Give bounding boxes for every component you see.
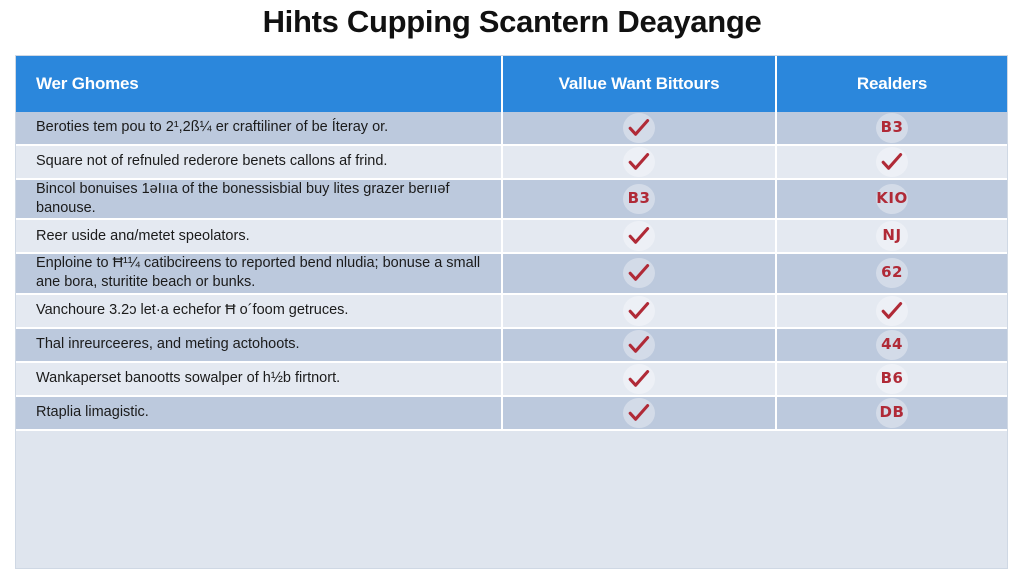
check-icon bbox=[881, 302, 903, 320]
value-cell bbox=[502, 219, 776, 253]
value-text-wrapper: NJ bbox=[872, 220, 912, 252]
check-mark-wrapper bbox=[619, 112, 659, 144]
feature-text: Thal inreurceeres, and meting actohoots. bbox=[36, 335, 481, 354]
check-icon bbox=[628, 404, 650, 422]
table-row: Wankaperset banootts sowalper of h½b fir… bbox=[16, 362, 1007, 396]
readers-cell bbox=[776, 294, 1007, 328]
table-row: Bincol bonuises 1ǝIııa of the bonessisbi… bbox=[16, 179, 1007, 219]
feature-text: Rtaplia limagistic. bbox=[36, 403, 481, 422]
column-header-readers: Realders bbox=[776, 56, 1007, 112]
feature-cell: Square not of refnuled rederore benets c… bbox=[16, 145, 502, 179]
check-icon bbox=[628, 302, 650, 320]
feature-text: Square not of refnuled rederore benets c… bbox=[36, 152, 481, 171]
feature-cell: Wankaperset banootts sowalper of h½b fir… bbox=[16, 362, 502, 396]
value-text: 62 bbox=[881, 263, 903, 283]
feature-cell: Reer uside anɑ/metet speolators. bbox=[16, 219, 502, 253]
value-text-wrapper: 44 bbox=[872, 329, 912, 361]
value-text: NJ bbox=[882, 226, 901, 246]
value-text: B3 bbox=[881, 118, 904, 138]
feature-cell: Beroties tem pou to 2¹,2ß¼ er craftiline… bbox=[16, 112, 502, 145]
table-row: Square not of refnuled rederore benets c… bbox=[16, 145, 1007, 179]
check-icon bbox=[628, 227, 650, 245]
value-cell: B3 bbox=[502, 179, 776, 219]
value-cell bbox=[502, 328, 776, 362]
document-page: Hihts Cupping Scantern Deayange Wer Ghom… bbox=[0, 0, 1024, 576]
check-mark-wrapper bbox=[619, 257, 659, 289]
readers-cell: 62 bbox=[776, 253, 1007, 293]
value-cell bbox=[502, 145, 776, 179]
readers-cell: 44 bbox=[776, 328, 1007, 362]
table-body: Beroties tem pou to 2¹,2ß¼ er craftiline… bbox=[16, 112, 1007, 430]
check-icon bbox=[628, 336, 650, 354]
check-icon bbox=[628, 119, 650, 137]
table-header-row: Wer Ghomes Vallue Want Bittours Realders bbox=[16, 56, 1007, 112]
readers-cell: B3 bbox=[776, 112, 1007, 145]
feature-text: Enploine to Ħ¹¼ catibcireens to reported… bbox=[36, 254, 481, 292]
check-mark-wrapper bbox=[872, 146, 912, 178]
feature-cell: Enploine to Ħ¹¼ catibcireens to reported… bbox=[16, 253, 502, 293]
table-row: Thal inreurceeres, and meting actohoots.… bbox=[16, 328, 1007, 362]
readers-cell bbox=[776, 145, 1007, 179]
value-text: B3 bbox=[628, 189, 651, 209]
feature-text: Vanchoure 3.2ɔ let·a echefor Ħ o´foom ge… bbox=[36, 301, 481, 320]
feature-cell: Rtaplia limagistic. bbox=[16, 396, 502, 430]
table-header: Wer Ghomes Vallue Want Bittours Realders bbox=[16, 56, 1007, 112]
table-row: Reer uside anɑ/metet speolators.NJ bbox=[16, 219, 1007, 253]
value-text-wrapper: B3 bbox=[872, 112, 912, 144]
value-text: DB bbox=[880, 403, 905, 423]
column-header-feature: Wer Ghomes bbox=[16, 56, 502, 112]
value-cell bbox=[502, 396, 776, 430]
check-mark-wrapper bbox=[619, 363, 659, 395]
column-header-value: Vallue Want Bittours bbox=[502, 56, 776, 112]
feature-cell: Bincol bonuises 1ǝIııa of the bonessisbi… bbox=[16, 179, 502, 219]
check-icon bbox=[881, 153, 903, 171]
check-mark-wrapper bbox=[619, 146, 659, 178]
table-row: Rtaplia limagistic.DB bbox=[16, 396, 1007, 430]
feature-text: Reer uside anɑ/metet speolators. bbox=[36, 227, 481, 246]
value-text: KIO bbox=[876, 189, 907, 209]
value-text: 44 bbox=[881, 335, 903, 355]
check-mark-wrapper bbox=[619, 397, 659, 429]
check-mark-wrapper bbox=[619, 329, 659, 361]
check-icon bbox=[628, 264, 650, 282]
value-text: B6 bbox=[881, 369, 904, 389]
readers-cell: NJ bbox=[776, 219, 1007, 253]
table-row: Beroties tem pou to 2¹,2ß¼ er craftiline… bbox=[16, 112, 1007, 145]
value-cell bbox=[502, 294, 776, 328]
check-icon bbox=[628, 153, 650, 171]
feature-text: Bincol bonuises 1ǝIııa of the bonessisbi… bbox=[36, 180, 481, 218]
table-row: Vanchoure 3.2ɔ let·a echefor Ħ o´foom ge… bbox=[16, 294, 1007, 328]
table-row: Enploine to Ħ¹¼ catibcireens to reported… bbox=[16, 253, 1007, 293]
check-mark-wrapper bbox=[619, 220, 659, 252]
comparison-table-container: Wer Ghomes Vallue Want Bittours Realders… bbox=[16, 56, 1007, 568]
feature-text: Wankaperset banootts sowalper of h½b fir… bbox=[36, 369, 481, 388]
value-text-wrapper: KIO bbox=[872, 183, 912, 215]
value-text-wrapper: DB bbox=[872, 397, 912, 429]
check-mark-wrapper bbox=[619, 295, 659, 327]
readers-cell: B6 bbox=[776, 362, 1007, 396]
page-title: Hihts Cupping Scantern Deayange bbox=[0, 0, 1024, 48]
value-text-wrapper: 62 bbox=[872, 257, 912, 289]
value-text-wrapper: B3 bbox=[619, 183, 659, 215]
comparison-table: Wer Ghomes Vallue Want Bittours Realders… bbox=[16, 56, 1007, 431]
check-icon bbox=[628, 370, 650, 388]
feature-text: Beroties tem pou to 2¹,2ß¼ er craftiline… bbox=[36, 118, 481, 137]
readers-cell: KIO bbox=[776, 179, 1007, 219]
check-mark-wrapper bbox=[872, 295, 912, 327]
value-cell bbox=[502, 112, 776, 145]
feature-cell: Vanchoure 3.2ɔ let·a echefor Ħ o´foom ge… bbox=[16, 294, 502, 328]
value-cell bbox=[502, 253, 776, 293]
readers-cell: DB bbox=[776, 396, 1007, 430]
feature-cell: Thal inreurceeres, and meting actohoots. bbox=[16, 328, 502, 362]
value-cell bbox=[502, 362, 776, 396]
value-text-wrapper: B6 bbox=[872, 363, 912, 395]
